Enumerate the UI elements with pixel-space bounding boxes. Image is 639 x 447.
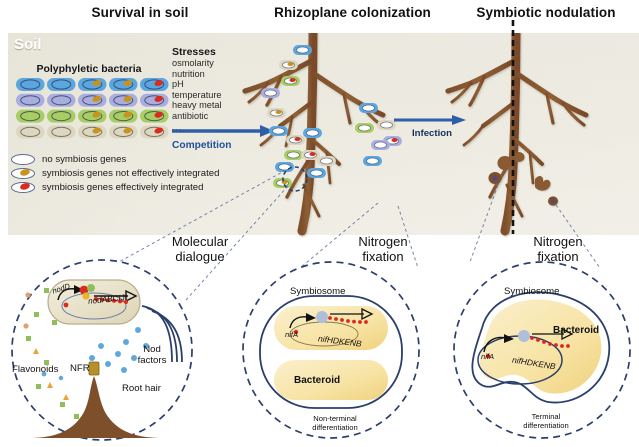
diff-line2: differentiation: [285, 423, 385, 432]
diff-line1: Terminal: [498, 412, 594, 421]
nfr-label: NFR: [70, 363, 90, 374]
bacteroid-label: Bacteroid: [553, 325, 599, 336]
inset-title-nonterminal-line1: Nitrogen: [320, 234, 446, 249]
nifA-gene-label: nifA: [481, 352, 494, 361]
symbiosome-label: Symbiosome: [504, 286, 559, 297]
inset-title-molecular-line1: Molecular: [135, 234, 265, 249]
figure-canvas: Survival in soil Rhizoplane colonization…: [0, 0, 639, 447]
flavonoids-label: Flavonoids: [12, 364, 58, 375]
nod-factors-line1: Nod: [128, 344, 176, 355]
root-hair-label: Root hair: [122, 383, 161, 394]
nod-factors-line2: factors: [128, 355, 176, 366]
diff-line2: differentiation: [498, 421, 594, 430]
inset-title-terminal-line1: Nitrogen: [495, 234, 621, 249]
nfr-receptor-icon: [89, 362, 99, 375]
differentiation-label-nonterminal: Non-terminal differentiation: [285, 414, 385, 432]
diff-line1: Non-terminal: [285, 414, 385, 423]
symbiosome-label: Symbiosome: [290, 286, 345, 297]
bacteroid-label: Bacteroid: [294, 375, 340, 386]
nifA-gene-label: nifA: [285, 330, 298, 339]
differentiation-label-terminal: Terminal differentiation: [498, 412, 594, 430]
nod-factors-label: Nod factors: [128, 344, 176, 366]
